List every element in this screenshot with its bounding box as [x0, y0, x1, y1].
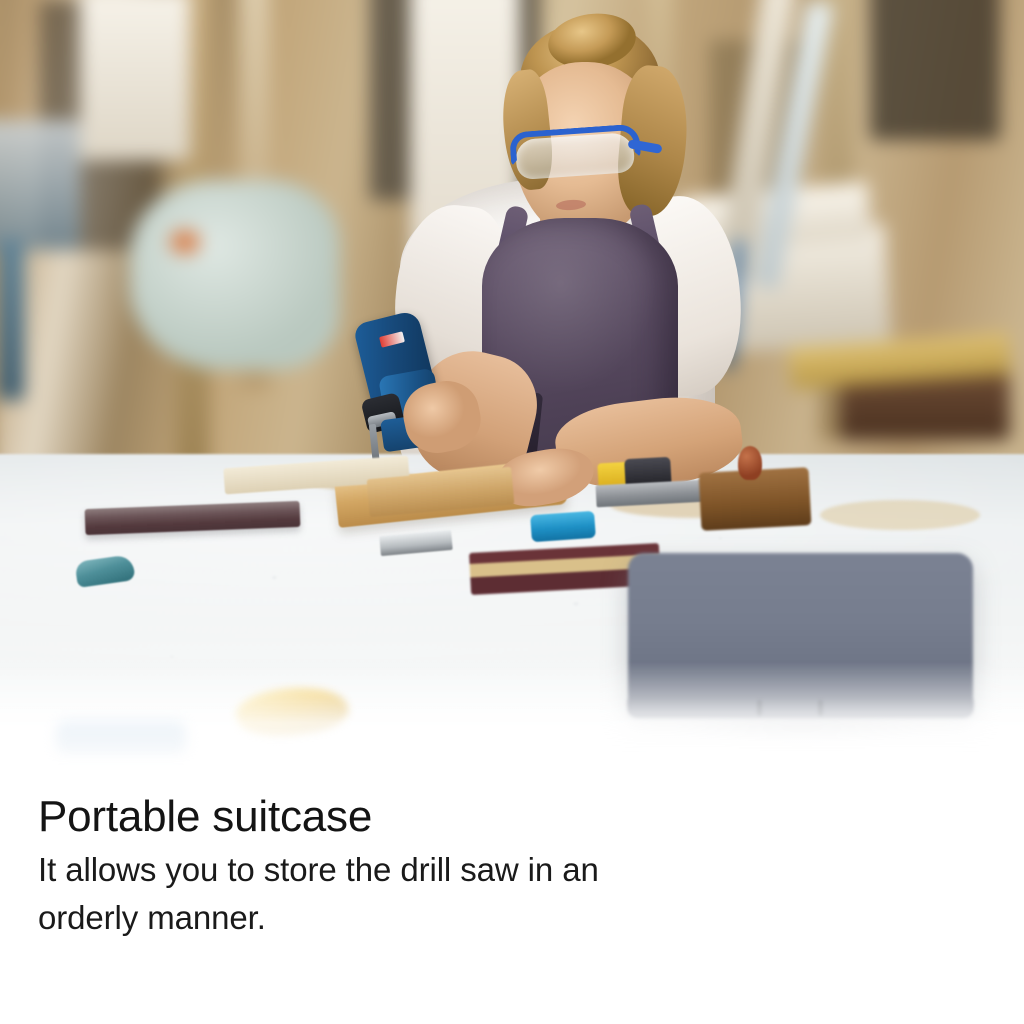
background-machine-leg — [0, 240, 24, 400]
portable-suitcase — [628, 553, 973, 718]
product-feature-card: Portable suitcase It allows you to store… — [0, 0, 1024, 1024]
suitcase-lid-seam — [628, 700, 973, 722]
blue-hand-tool — [530, 511, 596, 542]
caption-body: It allows you to store the drill saw in … — [38, 846, 663, 942]
background-orange-object — [170, 230, 200, 254]
caption-title: Portable suitcase — [38, 792, 738, 842]
background-white-panel — [80, 0, 190, 160]
blue-object-foreground — [56, 722, 186, 756]
suitcase-latch-right — [818, 700, 823, 716]
hand-plane-knob — [738, 446, 762, 480]
product-photo — [0, 0, 1024, 772]
suitcase-latch-left — [757, 700, 762, 716]
background-dark-corner — [870, 0, 1000, 140]
caption-block: Portable suitcase It allows you to store… — [38, 792, 738, 942]
background-sack — [130, 180, 340, 370]
background-machine — [0, 120, 80, 250]
sawdust-pile-right — [820, 500, 980, 530]
